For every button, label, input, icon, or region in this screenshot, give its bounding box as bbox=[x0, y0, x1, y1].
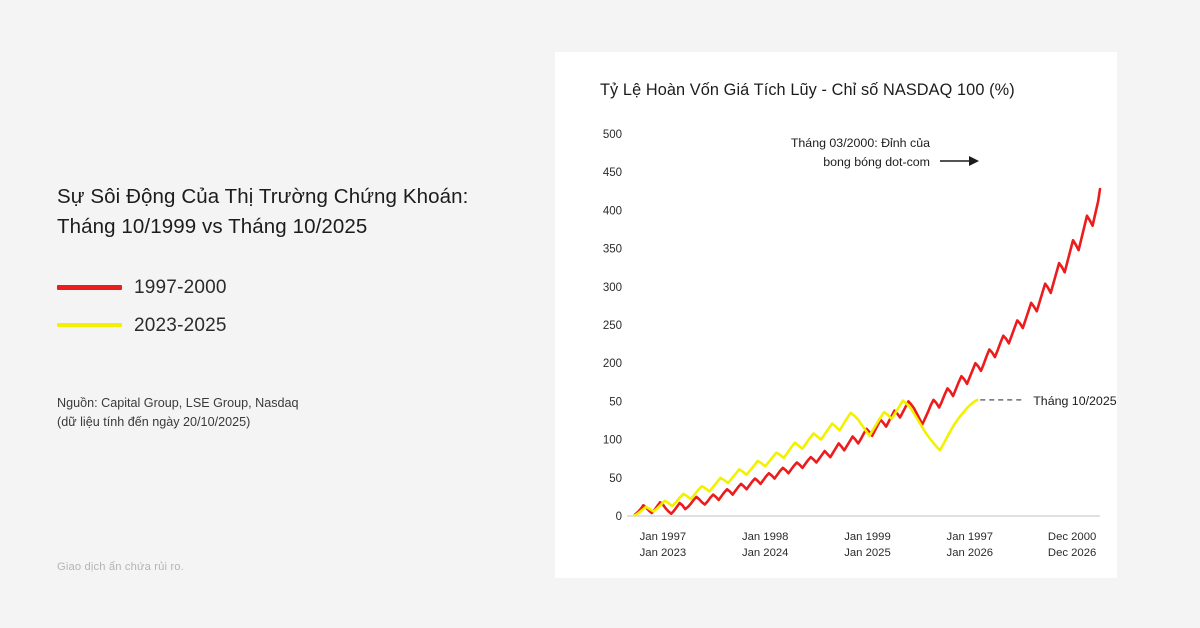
x-tick-label: Jan 1997Jan 2023 bbox=[640, 531, 686, 559]
source-attribution: Nguồn: Capital Group, LSE Group, Nasdaq … bbox=[57, 394, 457, 431]
page-title: Sự Sôi Động Của Thị Trường Chứng Khoán: … bbox=[57, 182, 517, 242]
legend-swatch-red bbox=[57, 285, 122, 290]
x-tick-label-top: Jan 1999 bbox=[844, 531, 890, 543]
y-tick-label: 100 bbox=[603, 435, 622, 447]
y-tick-label: 450 bbox=[603, 167, 622, 179]
chart-legend: 1997-2000 2023-2025 bbox=[57, 268, 377, 344]
y-tick-label: 300 bbox=[603, 282, 622, 294]
y-tick-label: 500 bbox=[603, 129, 622, 141]
x-tick-label-bottom: Jan 2024 bbox=[742, 547, 788, 559]
headline-line-1: Sự Sôi Động Của Thị Trường Chứng Khoán: bbox=[57, 182, 517, 212]
annotation-endpoint-label: Tháng 10/2025 bbox=[1033, 394, 1116, 408]
y-tick-label: 50 bbox=[609, 396, 622, 408]
annotation-line-2: bong bóng dot-com bbox=[823, 155, 930, 169]
y-tick-label: 350 bbox=[603, 244, 622, 256]
chart-plot-area: 50045040035030025020050100500Jan 1997Jan… bbox=[555, 52, 1117, 578]
x-tick-label-top: Jan 1998 bbox=[742, 531, 788, 543]
y-tick-label: 250 bbox=[603, 320, 622, 332]
legend-label-1997-2000: 1997-2000 bbox=[134, 278, 227, 297]
annotation-arrow-head bbox=[969, 156, 979, 166]
legend-swatch-yellow bbox=[57, 323, 122, 327]
x-tick-label-bottom: Jan 2025 bbox=[844, 547, 890, 559]
annotation-line-1: Tháng 03/2000: Đỉnh của bbox=[791, 136, 930, 150]
annotation-oct-2025-endpoint: Tháng 10/2025 bbox=[980, 394, 1116, 408]
y-tick-label: 0 bbox=[616, 511, 622, 523]
risk-disclaimer: Giao dịch ẩn chứa rủi ro. bbox=[57, 561, 184, 573]
legend-item-1997-2000: 1997-2000 bbox=[57, 268, 377, 306]
chart-card: Tỷ Lệ Hoàn Vốn Giá Tích Lũy - Chỉ số NAS… bbox=[555, 52, 1117, 578]
y-tick-label: 400 bbox=[603, 205, 622, 217]
x-tick-label-top: Jan 1997 bbox=[640, 531, 686, 543]
x-tick-label-bottom: Jan 2026 bbox=[947, 547, 993, 559]
x-tick-label-bottom: Dec 2026 bbox=[1048, 547, 1096, 559]
x-tick-label: Jan 1998Jan 2024 bbox=[742, 531, 788, 559]
x-tick-label: Jan 1999Jan 2025 bbox=[844, 531, 890, 559]
series-line-1997-2000 bbox=[635, 189, 1100, 514]
x-tick-label: Jan 1997Jan 2026 bbox=[947, 531, 993, 559]
source-line-1: Nguồn: Capital Group, LSE Group, Nasdaq bbox=[57, 394, 457, 413]
source-line-2: (dữ liệu tính đến ngày 20/10/2025) bbox=[57, 413, 457, 432]
x-tick-label-top: Jan 1997 bbox=[947, 531, 993, 543]
nasdaq-cumulative-return-chart: 50045040035030025020050100500Jan 1997Jan… bbox=[555, 52, 1117, 578]
x-tick-label-top: Dec 2000 bbox=[1048, 531, 1096, 543]
y-tick-label: 200 bbox=[603, 358, 622, 370]
y-tick-label: 50 bbox=[609, 473, 622, 485]
x-tick-label-bottom: Jan 2023 bbox=[640, 547, 686, 559]
legend-label-2023-2025: 2023-2025 bbox=[134, 316, 227, 335]
annotation-dotcom-peak: Tháng 03/2000: Đỉnh củabong bóng dot-com bbox=[791, 136, 979, 169]
headline-line-2: Tháng 10/1999 vs Tháng 10/2025 bbox=[57, 212, 517, 242]
left-info-panel: Sự Sôi Động Của Thị Trường Chứng Khoán: … bbox=[0, 0, 540, 628]
x-tick-label: Dec 2000Dec 2026 bbox=[1048, 531, 1096, 559]
legend-item-2023-2025: 2023-2025 bbox=[57, 306, 377, 344]
